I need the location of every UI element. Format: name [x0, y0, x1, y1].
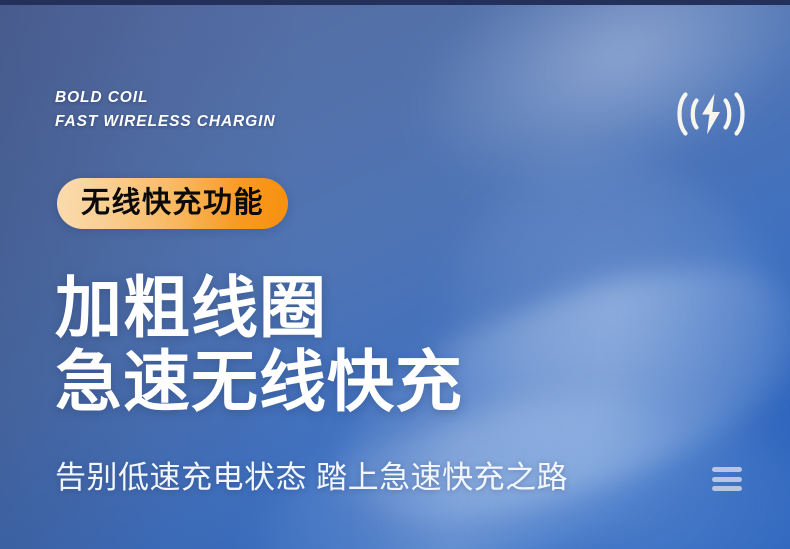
subtitle: 告别低速充电状态 踏上急速快充之路	[55, 459, 568, 497]
headline: 加粗线圈 急速无线快充	[55, 272, 463, 420]
menu-bar-middle	[712, 477, 742, 482]
eyebrow-line-2: FAST WIRELESS CHARGIN	[55, 110, 275, 134]
wireless-charging-icon	[676, 90, 746, 138]
eyebrow-text: BOLD COIL FAST WIRELESS CHARGIN	[55, 86, 275, 134]
menu-bar-bottom	[712, 486, 742, 491]
menu-bar-top	[712, 467, 742, 472]
eyebrow-line-1: BOLD COIL	[55, 86, 275, 110]
promo-banner: BOLD COIL FAST WIRELESS CHARGIN 无线快充功能 加…	[0, 0, 790, 549]
feature-badge: 无线快充功能	[57, 178, 288, 229]
top-accent-band	[0, 0, 790, 5]
feature-badge-label: 无线快充功能	[81, 189, 264, 218]
banner-content: BOLD COIL FAST WIRELESS CHARGIN 无线快充功能 加…	[0, 0, 790, 549]
headline-line-1: 加粗线圈	[55, 272, 463, 346]
headline-line-2: 急速无线快充	[55, 346, 463, 420]
hamburger-menu-icon[interactable]	[712, 465, 742, 493]
